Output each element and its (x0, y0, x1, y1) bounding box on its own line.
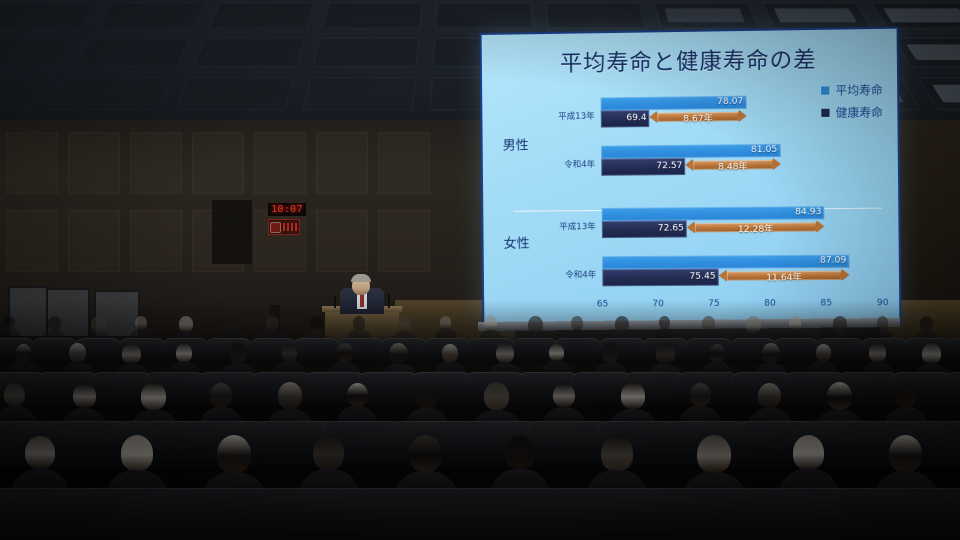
bar-value-average-male-h13: 78.07 (717, 98, 743, 107)
bar-value-average-male-r4: 81.05 (751, 146, 777, 155)
wall-panel (6, 210, 58, 272)
audience-seat (931, 488, 960, 540)
wall-panel (68, 132, 120, 194)
audience-head (601, 435, 633, 471)
gap-label-male-r4: 8.48年 (685, 159, 780, 173)
gap-arrow-male-r4: 8.48年 (685, 157, 780, 173)
audience-head (278, 382, 302, 409)
audience-head (176, 344, 192, 362)
wall-panel (254, 132, 306, 194)
audience-head (222, 316, 233, 328)
category-label-male-h13: 平成13年 (538, 110, 594, 123)
audience-head (895, 383, 917, 408)
audience-head (389, 343, 408, 364)
exit-pictogram-icon (270, 222, 281, 233)
bar-row-female-r4: 87.09 75.45 11.64年 (602, 254, 889, 288)
audience-head (746, 316, 761, 333)
audience-head (266, 316, 279, 331)
projection-screen: 平均寿命と健康寿命の差 平均寿命 健康寿命 男性 女性 平成13年 (480, 27, 902, 326)
audience-shoulders (435, 328, 457, 338)
ceiling-coffer (546, 3, 645, 27)
wall-clock: 10:07 (268, 203, 306, 216)
audience-head (347, 383, 368, 407)
bar-value-healthy-female-r4: 75.45 (689, 273, 715, 282)
wall-panel (68, 210, 120, 272)
speaker-hair (351, 274, 371, 282)
gap-arrow-female-r4: 11.64年 (719, 268, 850, 284)
ceiling-coffer (211, 3, 314, 27)
audience-head (549, 344, 564, 361)
audience-head (25, 436, 55, 470)
audience-seat (947, 338, 960, 364)
chart-plot-area: 男性 女性 平成13年 78.07 69.4 8. (500, 88, 889, 316)
lecture-hall-photo: 10:07 平均寿命と健康寿命の差 平均寿命 健康寿命 男性 (0, 0, 960, 540)
wall-panel (192, 132, 244, 194)
bar-value-average-female-r4: 87.09 (820, 257, 847, 266)
category-label-male-r4: 令和4年 (539, 158, 595, 171)
ceiling-light-panel (906, 44, 960, 60)
audience-shoulders (871, 328, 893, 338)
gap-label-male-h13: 8.67年 (650, 111, 747, 125)
audience-head (827, 382, 852, 410)
audience-head (442, 344, 458, 362)
bar-value-average-female-h13: 84.93 (795, 208, 821, 217)
ceiling-light-panel (883, 8, 960, 22)
audience-head (484, 382, 509, 410)
audience-head (4, 383, 25, 407)
audience-head (690, 383, 711, 407)
audience-head (121, 435, 153, 471)
audience-head (282, 344, 297, 361)
audience-head (793, 435, 824, 470)
wall-alcove (212, 200, 252, 264)
audience-head (877, 316, 888, 328)
bar-healthy-female-h13: 72.65 (602, 220, 687, 238)
audience-head (397, 316, 411, 332)
emergency-exit-sign (268, 219, 300, 235)
audience-shoulders (653, 328, 675, 338)
audience-head (553, 383, 575, 408)
category-label-female-h13: 平成13年 (539, 220, 595, 232)
audience-head (91, 316, 106, 333)
ceiling-coffer (0, 39, 74, 66)
bar-healthy-male-r4: 72.57 (601, 158, 685, 176)
category-label-female-r4: 令和4年 (540, 268, 596, 280)
bar-row-male-h13: 78.07 69.4 8.67年 (601, 94, 888, 130)
audience-head (496, 343, 514, 363)
group-label-male: 男性 (503, 134, 529, 153)
audience-area (0, 300, 960, 540)
audience-head (659, 316, 670, 328)
ceiling-coffer (0, 78, 50, 109)
bar-value-healthy-male-h13: 69.4 (626, 114, 646, 123)
bar-row-male-r4: 81.05 72.57 8.48年 (601, 143, 888, 178)
audience-head (709, 344, 725, 362)
gap-arrow-female-h13: 12.28年 (687, 219, 825, 235)
audience-head (336, 343, 353, 362)
bar-value-healthy-male-r4: 72.57 (656, 162, 682, 171)
audience-head (409, 435, 442, 472)
ceiling-coffer (98, 3, 205, 27)
ceiling-light-panel (774, 8, 857, 22)
gap-label-female-h13: 12.28年 (687, 221, 825, 235)
audience-head (135, 316, 147, 329)
audience-head (353, 316, 365, 329)
audience-head (869, 343, 886, 362)
audience-head (602, 343, 619, 362)
audience-head (415, 383, 438, 409)
ceiling-coffer (50, 78, 172, 109)
audience-head (217, 435, 251, 473)
audience-head (762, 343, 780, 363)
bar-healthy-male-h13: 69.4 (601, 110, 650, 128)
audience-head (758, 383, 781, 409)
wall-panel (6, 132, 58, 194)
audience-shoulders (0, 328, 21, 338)
audience-head (889, 435, 922, 472)
presentation-slide: 平均寿命と健康寿命の差 平均寿命 健康寿命 男性 女性 平成13年 (482, 29, 900, 324)
clock-time: 10:07 (271, 204, 303, 215)
gap-arrow-male-h13: 8.67年 (650, 109, 747, 125)
ceiling-coffer (75, 39, 189, 66)
audience-head (656, 343, 675, 364)
audience-head (122, 343, 141, 364)
audience-seat (292, 338, 340, 364)
wall-panel (378, 210, 430, 272)
wall-panel (130, 132, 182, 194)
audience-head (571, 316, 583, 329)
bar-value-healthy-female-h13: 72.65 (658, 224, 684, 233)
ceiling-coffer (195, 39, 304, 66)
audience-head (816, 344, 831, 361)
audience-head (528, 316, 543, 333)
audience-head (702, 316, 715, 331)
wall-panel (316, 132, 368, 194)
audience-seat (944, 372, 960, 406)
bar-healthy-female-r4: 75.45 (602, 269, 719, 287)
wall-panel (316, 210, 368, 272)
audience-head (621, 382, 645, 409)
ceiling-coffer (323, 3, 421, 27)
audience-shoulders (217, 328, 239, 338)
audience-head (697, 435, 731, 473)
audience-head (141, 382, 166, 410)
gap-label-female-r4: 11.64年 (719, 270, 850, 284)
ceiling-coffer (304, 78, 415, 109)
audience-head (179, 316, 193, 332)
audience-head (48, 316, 61, 331)
ceiling-coffer (314, 39, 418, 66)
audience-head (484, 316, 497, 331)
audience-seat (939, 421, 960, 467)
audience-head (69, 343, 86, 362)
group-label-female: 女性 (503, 233, 529, 252)
exit-sign-text (283, 223, 298, 231)
audience-head (313, 435, 344, 470)
audience-head (440, 316, 451, 328)
audience-head (73, 383, 96, 409)
audience-head (789, 316, 801, 329)
audience-head (920, 316, 933, 331)
audience-head (833, 316, 847, 332)
wall-panel (378, 132, 430, 194)
audience-head (309, 316, 324, 333)
bar-row-female-h13: 84.93 72.65 12.28年 (602, 206, 889, 241)
audience-head (4, 316, 15, 328)
audience-head (922, 343, 941, 364)
audience-head (210, 383, 232, 408)
wall-panel (130, 210, 182, 272)
audience-head (615, 316, 629, 332)
audience-head (505, 436, 535, 470)
audience-head (229, 343, 247, 363)
audience-head (16, 344, 31, 361)
slide-title: 平均寿命と健康寿命の差 (482, 41, 897, 79)
ceiling-coffer (177, 78, 293, 109)
ceiling-light-panel (664, 8, 745, 22)
ceiling-coffer (436, 3, 532, 27)
ceiling-coffer (0, 3, 96, 27)
